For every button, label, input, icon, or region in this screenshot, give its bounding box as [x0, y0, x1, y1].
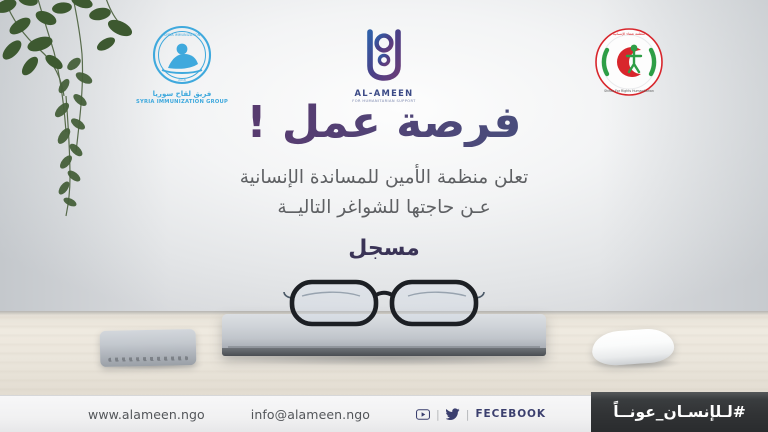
announcement-line-2: عـن حاجتها للشواغر التاليــة [0, 193, 768, 223]
page-title: فرصة عمل ! [0, 98, 768, 147]
laptop-base [222, 348, 546, 356]
silver-phone-icon [100, 329, 197, 367]
email-link[interactable]: info@alameen.ngo [251, 407, 370, 422]
logo-al-ameen: AL-AMEEN FOR HUMANITARIAN SUPPORT [336, 26, 432, 103]
campaign-hashtag-bar: #لـلإنسـان_عونــاً [591, 392, 768, 432]
black-eyeglasses-icon [282, 276, 486, 330]
social-links: | | FECEBOOK [416, 405, 546, 424]
website-link[interactable]: www.alameen.ngo [88, 407, 205, 422]
campaign-hashtag-text: #لـلإنسـان_عونــاً [613, 403, 745, 421]
job-position-title: مسجل [0, 236, 768, 261]
svg-text:SYRIA IMMUNIZATION: SYRIA IMMUNIZATION [164, 33, 201, 37]
announcement-line-1: تعلن منظمة الأمين للمساندة الإنسانية [0, 163, 768, 193]
facebook-label[interactable]: FECEBOOK [475, 408, 545, 420]
al-ameen-calligraphy-logo-icon [339, 26, 429, 82]
shifaa-circular-logo-icon: منظمة شفاء الإنسانية Shifaa For Rights H… [589, 24, 669, 100]
svg-text:Shifaa For Rights Humanitarian: Shifaa For Rights Humanitarian [604, 89, 654, 93]
announcement-text: تعلن منظمة الأمين للمساندة الإنسانية عـن… [0, 163, 768, 223]
phone-ports [108, 356, 188, 362]
youtube-icon[interactable] [416, 405, 430, 424]
social-separator-2: | [466, 408, 470, 421]
social-separator-1: | [436, 408, 440, 421]
twitter-icon[interactable] [446, 405, 460, 424]
job-vacancy-poster: SYRIA IMMUNIZATION 2018 فريق لقاح سوريا … [0, 0, 768, 432]
svg-text:2018: 2018 [178, 78, 186, 82]
logo-syria-immunization-group: SYRIA IMMUNIZATION 2018 فريق لقاح سوريا … [128, 24, 236, 107]
logo-shifaa: منظمة شفاء الإنسانية Shifaa For Rights H… [586, 24, 672, 104]
vaccination-group-circular-logo-icon: SYRIA IMMUNIZATION 2018 [132, 24, 232, 86]
